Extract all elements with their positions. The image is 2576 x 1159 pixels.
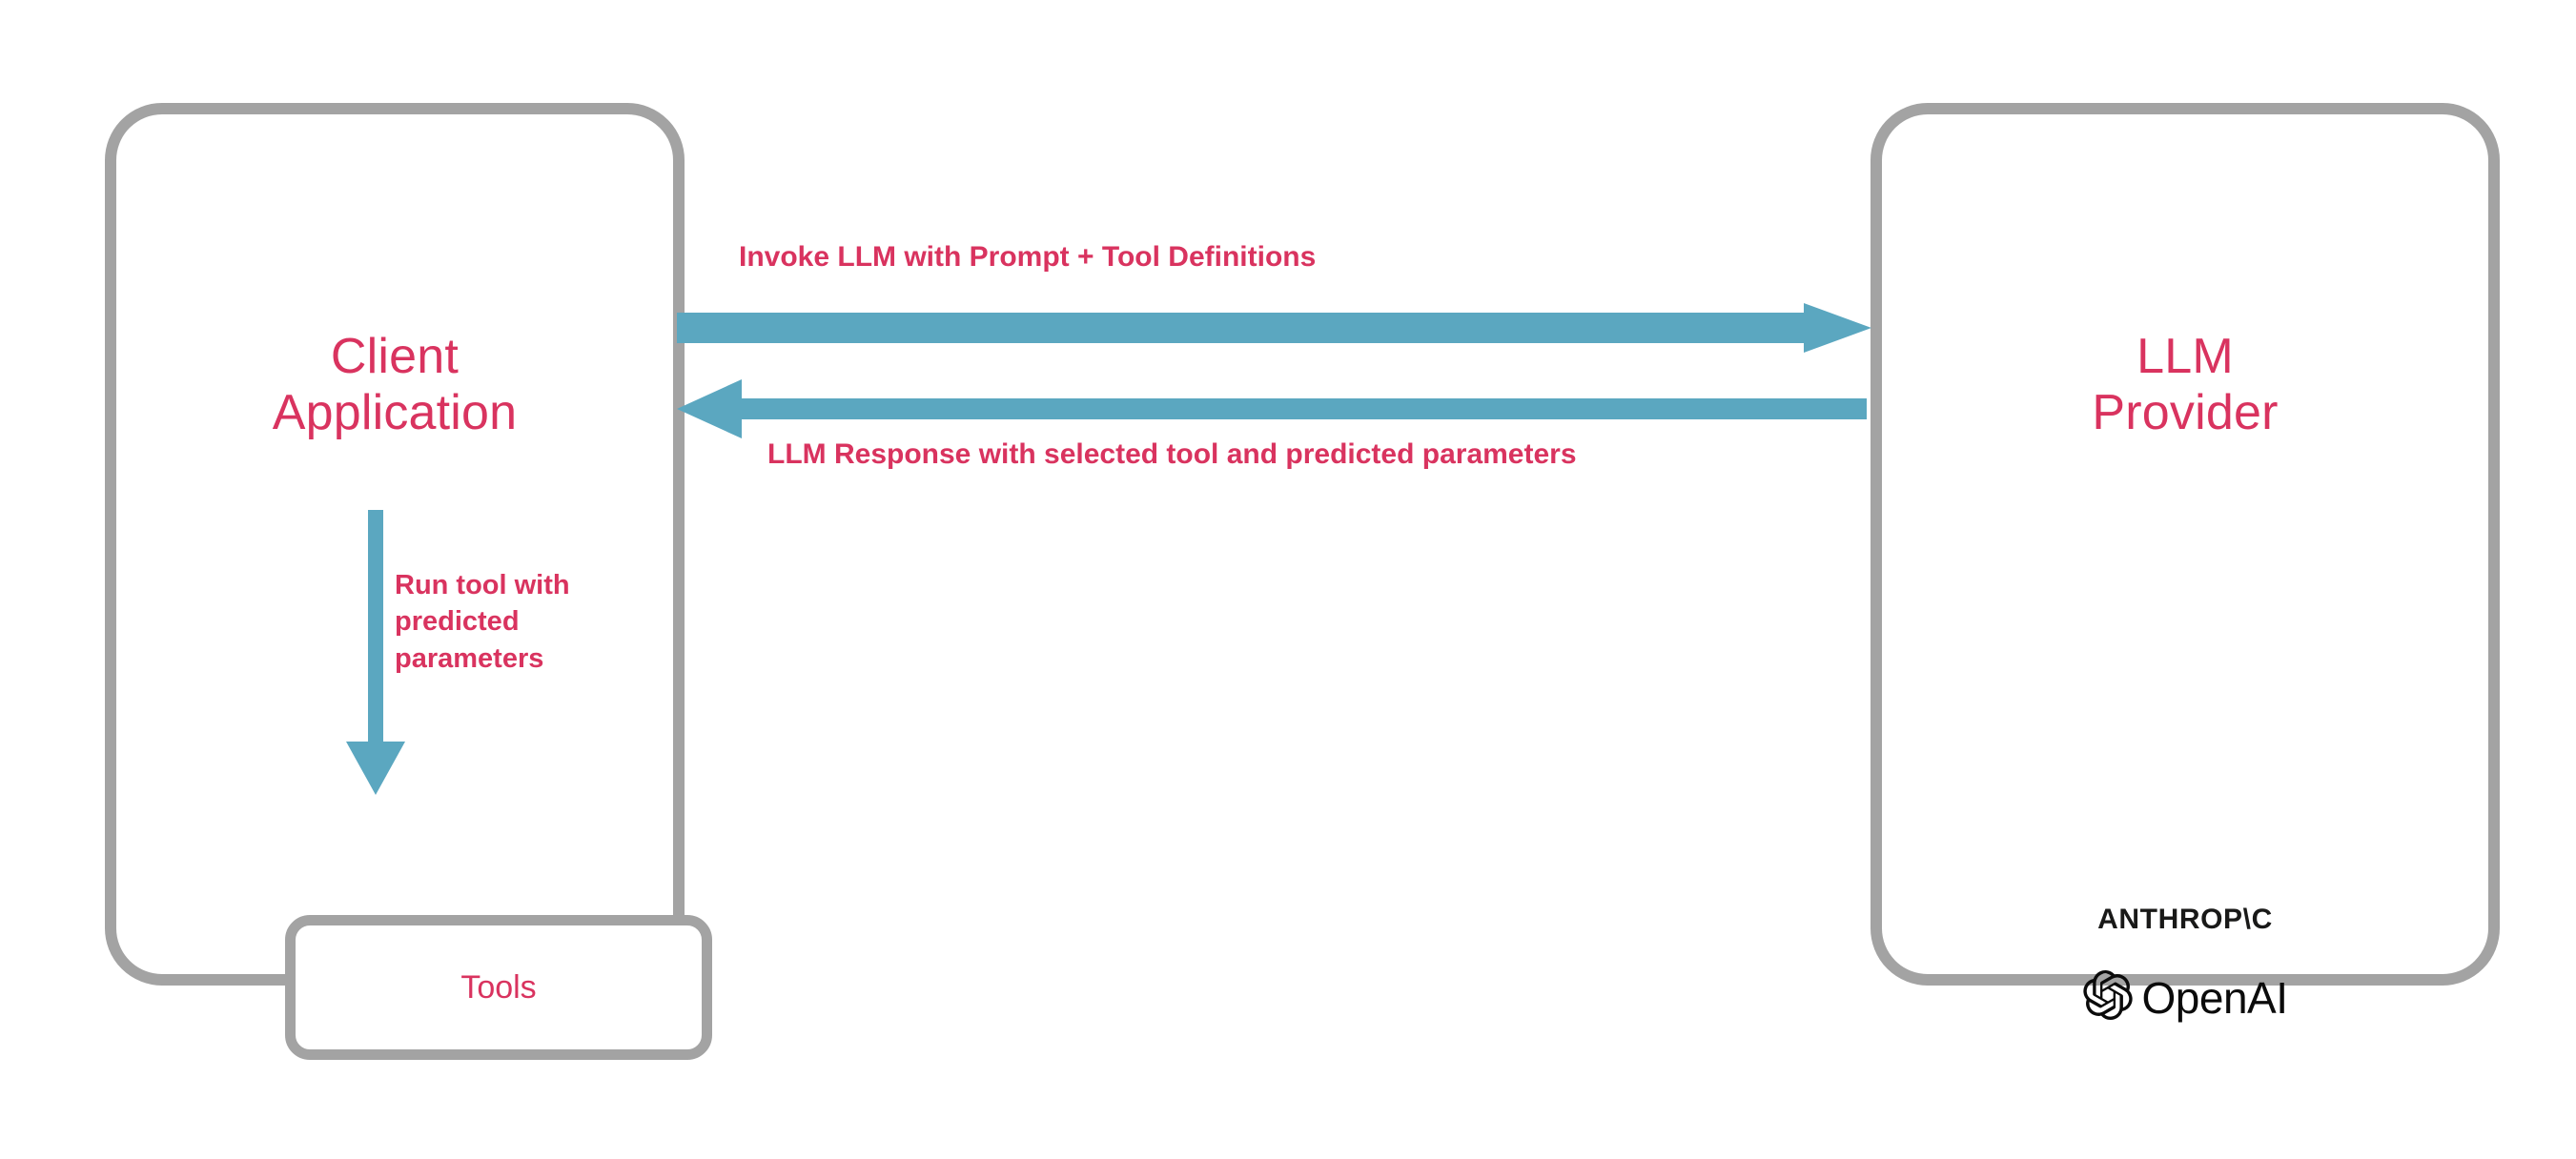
edge-label-response: LLM Response with selected tool and pred… [767,438,1577,471]
openai-wordmark: OpenAI [2142,972,2288,1024]
edge-label-invoke: Invoke LLM with Prompt + Tool Definition… [739,241,1316,274]
tools-label: Tools [460,969,536,1006]
arrow-invoke-llm [677,303,1873,360]
llm-provider-node[interactable]: LLM Provider ANTHROP\C OpenAI [1871,103,2500,986]
llm-provider-title: LLM Provider [1882,329,2488,442]
openai-logo: OpenAI [1882,970,2488,1025]
tools-node[interactable]: Tools [285,915,712,1060]
anthropic-wordmark: ANTHROP\C [1882,904,2488,936]
arrow-llm-response [677,379,1869,438]
openai-knot-icon [2083,970,2133,1025]
client-application-title: Client Application [116,329,673,442]
edge-label-run-tool: Run tool with predicted parameters [395,567,681,677]
diagram-canvas: Client Application Tools LLM Provider AN… [0,0,2576,1159]
